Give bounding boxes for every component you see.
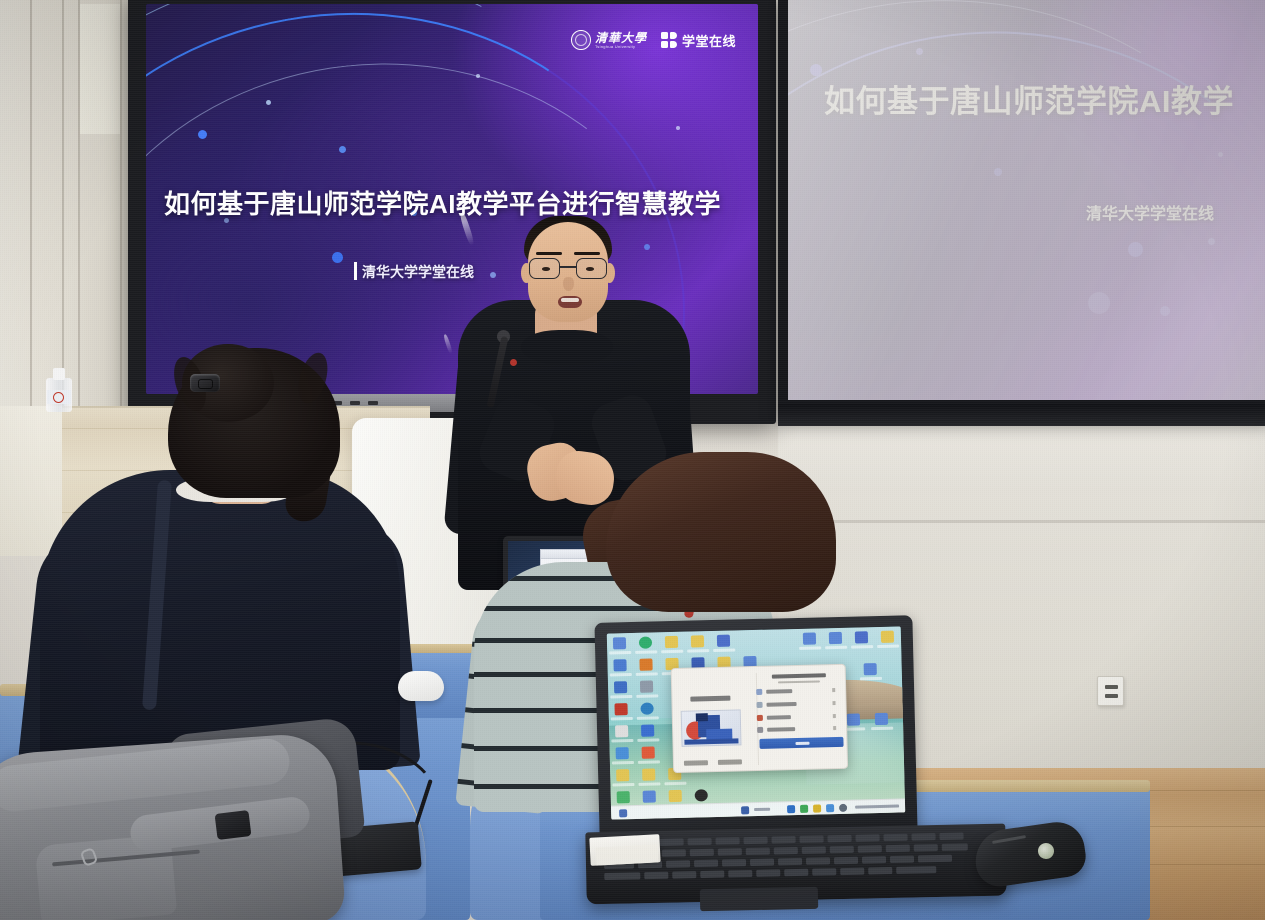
- hair-clip-icon: [190, 374, 220, 392]
- xuetangx-logo-cn: 学堂在线: [682, 31, 736, 50]
- projection-screen-bottom-trim: [778, 404, 1265, 426]
- counter-side-panel: [0, 406, 62, 556]
- backpack-buckle-icon: [215, 810, 252, 840]
- laptop-trackpad[interactable]: [700, 887, 818, 911]
- laptop-keyboard[interactable]: [604, 832, 991, 888]
- slide-subtitle: 清华大学学堂在线: [362, 262, 474, 282]
- dialog-left-label: [690, 696, 730, 702]
- dialog-title: [772, 673, 826, 678]
- notepad-page: [596, 844, 659, 865]
- classroom-photo: 清華大學 Tsinghua University 学堂在线 如何基于唐山师范学院…: [0, 0, 1265, 920]
- student-laptop-front-screen[interactable]: [607, 626, 905, 819]
- student-right-hair: [606, 452, 836, 612]
- dialog-menu-item[interactable]: [767, 702, 797, 707]
- dialog-menu-item[interactable]: [766, 689, 792, 694]
- tsinghua-logo-en: Tsinghua University: [595, 45, 647, 49]
- slide-title: 如何基于唐山师范学院AI教学平台进行智慧教学: [164, 184, 721, 221]
- dialog-subtitle: [778, 680, 820, 683]
- microphone-indicator-icon: [510, 359, 517, 366]
- presenter-mouth-speaking: [558, 296, 582, 308]
- left-wall-panels: [0, 0, 132, 430]
- projection-glare: [788, 0, 1265, 400]
- slide-subtitle-bar: [354, 262, 357, 280]
- xuetangx-mark-icon: [661, 32, 677, 48]
- student-left-torso: [40, 470, 400, 770]
- tsinghua-logo-cn: 清華大學: [595, 32, 647, 44]
- dialog-menu-item[interactable]: [767, 727, 795, 732]
- power-outlet-icon: [1097, 676, 1124, 706]
- wall-paint-seam: [778, 520, 1265, 523]
- xuetangx-logo: 学堂在线: [661, 31, 736, 50]
- dialog-illustration: [681, 709, 742, 746]
- bottle-cap-icon: [53, 368, 65, 380]
- slide-logo-row: 清華大學 Tsinghua University 学堂在线: [571, 30, 736, 50]
- projected-slide: 如何基于唐山师范学院AI教学 清华大学学堂在线: [788, 0, 1265, 400]
- projection-screen: 如何基于唐山师范学院AI教学 清华大学学堂在线: [788, 0, 1265, 400]
- dialog-footer-action[interactable]: [684, 760, 708, 766]
- application-dialog[interactable]: [671, 664, 849, 773]
- port-icon: [350, 401, 360, 405]
- tsinghua-university-logo: 清華大學 Tsinghua University: [571, 30, 647, 50]
- water-bottle: [46, 368, 72, 412]
- dialog-primary-button[interactable]: [759, 737, 843, 749]
- tsinghua-seal-icon: [571, 30, 591, 50]
- dialog-menu-item[interactable]: [767, 715, 791, 720]
- port-icon: [368, 401, 378, 405]
- dialog-footer-action[interactable]: [718, 759, 742, 765]
- projection-screen-frame: 如何基于唐山师范学院AI教学 清华大学学堂在线: [778, 0, 1265, 420]
- white-mouse[interactable]: [398, 671, 444, 701]
